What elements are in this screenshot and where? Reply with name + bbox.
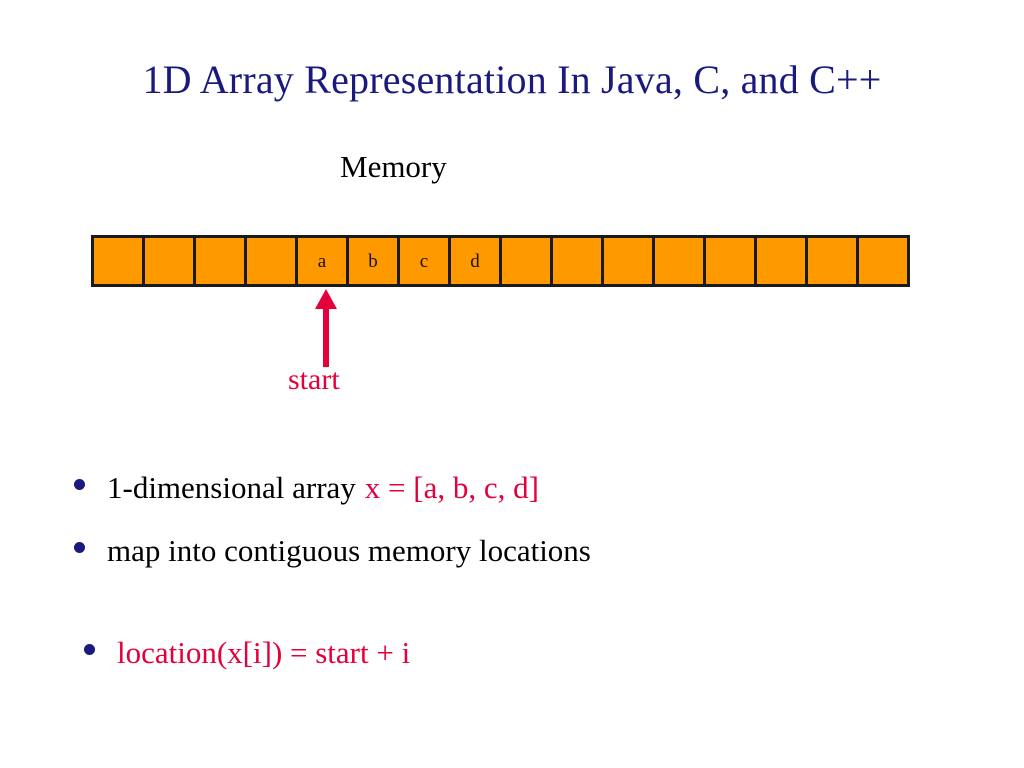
bullet-item-1: 1-dimensional arrayx = [a, b, c, d] [74,468,539,508]
bullet-item-3: location(x[i]) = start + i [84,633,410,673]
bullet-2-segment-1: map into contiguous memory locations [107,533,591,568]
bullet-text-1: 1-dimensional arrayx = [a, b, c, d] [107,468,539,508]
bullet-1-segment-2: x = [a, b, c, d] [365,470,539,505]
start-pointer-label: start [288,362,340,398]
bullet-text-3: location(x[i]) = start + i [117,633,410,673]
memory-array: abcd [91,235,910,287]
memory-cell: c [400,238,451,284]
bullet-marker-icon [84,644,95,655]
memory-cell [247,238,298,284]
bullet-marker-icon [74,479,85,490]
memory-cell [502,238,553,284]
memory-cell [706,238,757,284]
memory-cell [604,238,655,284]
memory-cell [553,238,604,284]
bullet-marker-icon [74,542,85,553]
memory-cell [859,238,910,284]
memory-cell [757,238,808,284]
start-pointer-arrow [306,289,346,367]
memory-cell [655,238,706,284]
memory-cell [808,238,859,284]
memory-cell: a [298,238,349,284]
memory-cell [94,238,145,284]
slide-canvas: 1D Array Representation In Java, C, and … [0,0,1024,768]
bullet-1-segment-1: 1-dimensional array [107,470,356,505]
page-title: 1D Array Representation In Java, C, and … [0,56,1024,104]
bullet-3-segment-1: location(x[i]) = start + i [117,635,410,670]
memory-cell [196,238,247,284]
bullet-text-2: map into contiguous memory locations [107,531,591,571]
memory-cell [145,238,196,284]
bullet-item-2: map into contiguous memory locations [74,531,591,571]
memory-cell: b [349,238,400,284]
memory-cell: d [451,238,502,284]
memory-caption: Memory [340,148,447,186]
